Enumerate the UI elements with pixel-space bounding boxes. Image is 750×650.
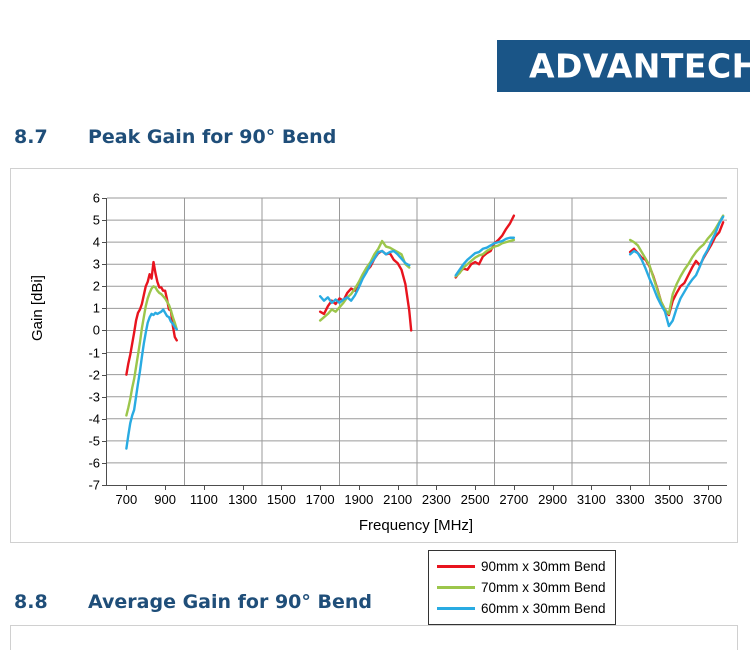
section-number-average-gain: 8.8 xyxy=(14,591,88,613)
x-axis-tick-label: 2300 xyxy=(422,492,451,507)
legend-item: 70mm x 30mm Bend xyxy=(433,577,609,598)
series-line xyxy=(456,240,514,276)
series-line xyxy=(320,251,409,303)
x-axis-tick-label: 1300 xyxy=(228,492,257,507)
y-axis-tick-mark xyxy=(102,441,107,442)
x-axis-tick-mark xyxy=(514,485,515,490)
y-axis-tick-label: 1 xyxy=(93,301,100,316)
legend-color-swatch xyxy=(437,565,475,568)
y-axis-tick-label: -4 xyxy=(88,411,100,426)
legend-color-swatch xyxy=(437,586,475,589)
y-axis-tick-label: 3 xyxy=(93,257,100,272)
x-axis-tick-mark xyxy=(165,485,166,490)
legend-color-swatch xyxy=(437,607,475,610)
y-axis-tick-mark xyxy=(102,485,107,486)
y-axis-tick-label: -7 xyxy=(88,478,100,493)
legend-item-label: 90mm x 30mm Bend xyxy=(481,559,606,574)
y-axis-tick-label: -6 xyxy=(88,455,100,470)
y-axis-tick-label: -1 xyxy=(88,345,100,360)
section-title-peak-gain: Peak Gain for 90° Bend xyxy=(88,126,336,148)
x-axis-tick-mark xyxy=(398,485,399,490)
x-axis-tick-label: 1100 xyxy=(190,492,218,507)
y-axis-tick-label: 0 xyxy=(93,323,100,338)
x-axis-tick-label: 700 xyxy=(116,492,138,507)
y-axis-title: Gain [dBi] xyxy=(29,275,46,341)
peak-gain-chart-container: Gain [dBi] Frequency [MHz] 6543210-1-2-3… xyxy=(10,168,738,543)
y-axis-tick-label: -2 xyxy=(88,367,100,382)
x-axis-tick-label: 3100 xyxy=(577,492,606,507)
x-axis-tick-mark xyxy=(243,485,244,490)
legend-item-label: 70mm x 30mm Bend xyxy=(481,580,606,595)
y-axis-tick-label: 6 xyxy=(93,191,100,206)
y-axis-tick-label: 2 xyxy=(93,279,100,294)
y-axis-tick-mark xyxy=(102,463,107,464)
x-axis-tick-label: 1700 xyxy=(306,492,335,507)
chart-series-lines xyxy=(107,198,727,485)
x-axis-tick-label: 2900 xyxy=(538,492,567,507)
x-axis-tick-mark xyxy=(436,485,437,490)
x-axis-tick-mark xyxy=(630,485,631,490)
y-axis-tick-mark xyxy=(102,419,107,420)
x-axis-tick-mark xyxy=(553,485,554,490)
y-axis-tick-mark xyxy=(102,330,107,331)
y-axis-tick-mark xyxy=(102,286,107,287)
x-axis-tick-label: 3300 xyxy=(616,492,645,507)
x-axis-tick-mark xyxy=(708,485,709,490)
section-heading-peak-gain: 8.7Peak Gain for 90° Bend xyxy=(14,126,336,148)
y-axis-tick-mark xyxy=(102,308,107,309)
y-axis-tick-mark xyxy=(102,397,107,398)
legend-item-label: 60mm x 30mm Bend xyxy=(481,601,606,616)
legend-item: 60mm x 30mm Bend xyxy=(433,598,609,619)
plot-area: 6543210-1-2-3-4-5-6-77009001100130015001… xyxy=(106,198,727,486)
x-axis-tick-label: 1900 xyxy=(344,492,373,507)
x-axis-title: Frequency [MHz] xyxy=(106,517,726,534)
document-page: ADVANTECH 8.7Peak Gain for 90° Bend Gain… xyxy=(0,0,750,650)
x-axis-tick-mark xyxy=(126,485,127,490)
series-line xyxy=(126,286,176,415)
x-axis-tick-mark xyxy=(669,485,670,490)
y-axis-tick-label: -3 xyxy=(88,389,100,404)
x-axis-tick-label: 3500 xyxy=(654,492,683,507)
y-axis-tick-label: 4 xyxy=(93,235,100,250)
x-axis-tick-mark xyxy=(475,485,476,490)
y-axis-tick-mark xyxy=(102,220,107,221)
y-axis-tick-label: 5 xyxy=(93,213,100,228)
section-number-peak-gain: 8.7 xyxy=(14,126,88,148)
series-line xyxy=(630,217,723,326)
x-axis-tick-mark xyxy=(359,485,360,490)
x-axis-tick-label: 1500 xyxy=(267,492,296,507)
advantech-logo: ADVANTECH xyxy=(497,40,750,92)
advantech-wordmark: ADVANTECH xyxy=(529,47,750,86)
y-axis-tick-mark xyxy=(102,242,107,243)
x-axis-tick-label: 2500 xyxy=(461,492,490,507)
average-gain-chart-container xyxy=(10,625,738,650)
y-axis-tick-label: -5 xyxy=(88,433,100,448)
section-heading-average-gain: 8.8Average Gain for 90° Bend xyxy=(14,591,372,613)
section-title-average-gain: Average Gain for 90° Bend xyxy=(88,591,372,613)
series-line xyxy=(320,251,411,330)
x-axis-tick-mark xyxy=(281,485,282,490)
y-axis-tick-mark xyxy=(102,264,107,265)
x-axis-tick-label: 3700 xyxy=(693,492,722,507)
x-axis-tick-mark xyxy=(204,485,205,490)
x-axis-tick-label: 2100 xyxy=(383,492,412,507)
y-axis-tick-mark xyxy=(102,353,107,354)
y-axis-tick-mark xyxy=(102,375,107,376)
x-axis-tick-label: 900 xyxy=(154,492,176,507)
x-axis-tick-label: 2700 xyxy=(499,492,528,507)
chart-legend: 90mm x 30mm Bend70mm x 30mm Bend60mm x 3… xyxy=(428,550,616,625)
x-axis-tick-mark xyxy=(591,485,592,490)
legend-item: 90mm x 30mm Bend xyxy=(433,556,609,577)
x-axis-tick-mark xyxy=(320,485,321,490)
y-axis-tick-mark xyxy=(102,198,107,199)
